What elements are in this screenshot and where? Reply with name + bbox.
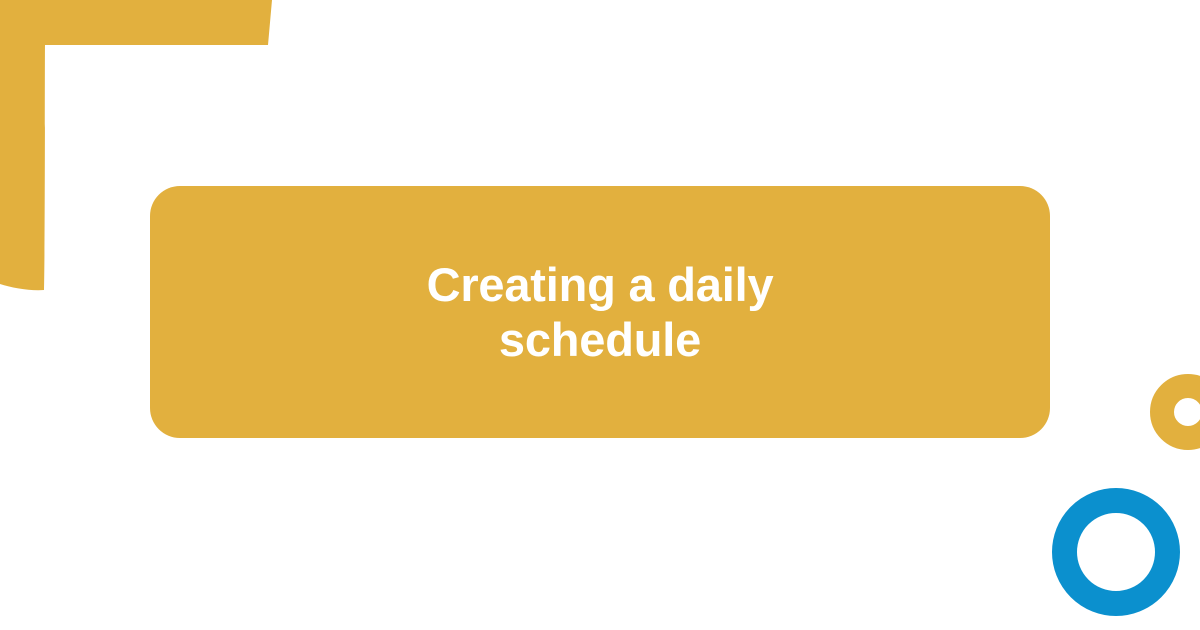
blue-ring-icon <box>1052 488 1180 616</box>
banner-canvas: Creating a daily schedule <box>0 0 1200 630</box>
page-title: Creating a daily schedule <box>390 257 810 368</box>
hero-card: Creating a daily schedule <box>150 186 1050 438</box>
gold-ring-icon <box>1150 374 1200 450</box>
